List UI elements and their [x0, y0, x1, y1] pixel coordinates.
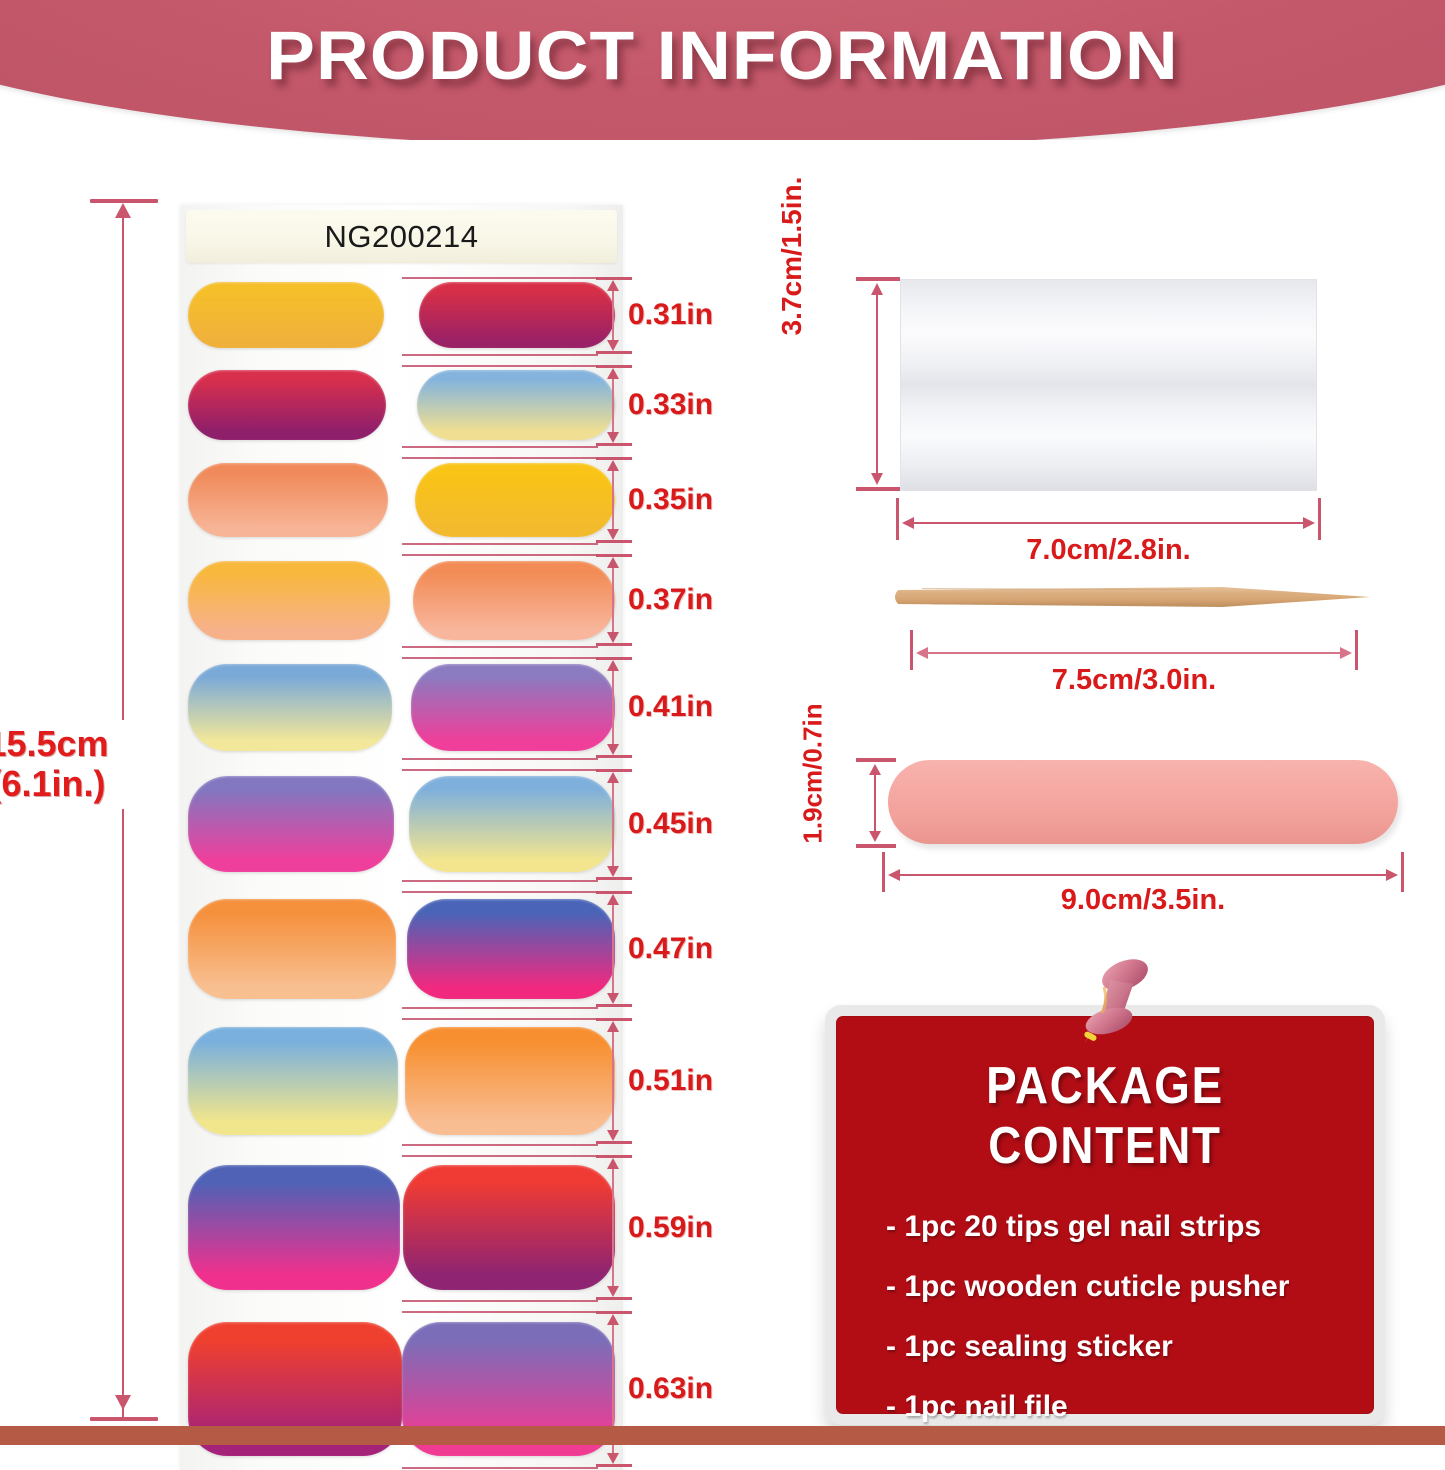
nail-strip-row: [180, 769, 623, 880]
strip-violet-pink[interactable]: [411, 664, 615, 751]
dimension-tick-bottom: [596, 877, 632, 880]
dimension-leader-line: [402, 354, 598, 356]
row-dimension-label: 0.35in: [628, 483, 713, 517]
dimension-leader-line: [402, 1311, 598, 1313]
dimension-arrow-up: [607, 894, 619, 905]
dimension-leader-line: [402, 880, 598, 882]
strip-purple-pink[interactable]: [188, 776, 394, 872]
total-height-line-2: (6.1in.): [0, 764, 135, 804]
sealing-sticker-width-label: 7.0cm/2.8in.: [896, 534, 1321, 567]
dimension-line: [612, 1023, 614, 1139]
dimension-arrow-down: [607, 1453, 619, 1464]
dimension-line: [876, 285, 878, 483]
dimension-tick-bottom: [596, 443, 632, 446]
dimension-leader-line: [402, 1018, 598, 1020]
dimension-leader-line: [402, 891, 598, 893]
dimension-tick-bottom: [596, 1141, 632, 1144]
dimension-line: [918, 652, 1350, 654]
row-dimension-label: 0.37in: [628, 583, 713, 617]
dimension-arrow-up: [115, 203, 131, 218]
dimension-arrow-down: [871, 473, 883, 485]
dimension-line: [122, 205, 124, 1417]
row-dimension-label: 0.51in: [628, 1064, 713, 1098]
dimension-leader-line: [402, 657, 598, 659]
total-height-label: 15.5cm (6.1in.): [0, 720, 135, 809]
package-content-item: - 1pc wooden cuticle pusher: [886, 1270, 1346, 1304]
dimension-arrow-down: [607, 340, 619, 351]
row-dimension-label: 0.31in: [628, 298, 713, 332]
dimension-arrow-down: [115, 1395, 131, 1410]
row-dimension: 0.31in: [596, 277, 726, 354]
dimension-line: [890, 874, 1396, 876]
dimension-line: [612, 559, 614, 640]
package-content-card: PACKAGE CONTENT - 1pc 20 tips gel nail s…: [825, 1005, 1385, 1425]
strip-yellow-gold[interactable]: [188, 282, 384, 348]
dimension-arrow-up: [607, 772, 619, 783]
cuticle-pusher-length-label: 7.5cm/3.0in.: [910, 664, 1358, 697]
strip-indigo-magenta[interactable]: [407, 899, 615, 999]
strip-tangerine-peach[interactable]: [405, 1027, 615, 1135]
nail-file-height-dimension: [834, 758, 896, 848]
dimension-arrow-down: [607, 632, 619, 643]
nail-strip-sheet: NG200214: [180, 205, 623, 1470]
dimension-tick-bottom: [596, 1004, 632, 1007]
strip-blue-violet-pink[interactable]: [188, 1165, 400, 1290]
dimension-cap-bottom: [90, 1417, 158, 1421]
strip-sky-yellow[interactable]: [188, 664, 392, 751]
dimension-tick-bottom: [596, 643, 632, 646]
dimension-cap-bottom: [856, 844, 896, 848]
dimension-leader-line: [402, 554, 598, 556]
dimension-leader-line: [402, 457, 598, 459]
nail-strip-row: [180, 457, 623, 543]
dimension-leader-line: [402, 1007, 598, 1009]
package-content-item: - 1pc 20 tips gel nail strips: [886, 1210, 1346, 1244]
dimension-leader-line: [402, 758, 598, 760]
sealing-sticker-width-dimension: 7.0cm/2.8in.: [896, 498, 1321, 560]
row-dimension-label: 0.59in: [628, 1211, 713, 1245]
dimension-arrow-down: [607, 1130, 619, 1141]
strip-blue-yellow[interactable]: [417, 370, 615, 440]
dimension-leader-line: [402, 446, 598, 448]
cuticle-pusher-group: 7.5cm/3.0in.: [880, 584, 1380, 714]
page-title: PRODUCT INFORMATION: [0, 16, 1445, 95]
dimension-line: [612, 462, 614, 538]
dimension-arrow-up: [607, 460, 619, 471]
dimension-leader-line: [402, 1467, 598, 1469]
dimension-cap-bottom: [856, 487, 900, 491]
dimension-arrow-left: [902, 517, 914, 529]
nail-file-height-label: 1.9cm/0.7in: [798, 694, 829, 854]
dimension-leader-line: [402, 277, 598, 279]
row-dimension-label: 0.41in: [628, 690, 713, 724]
dimension-tick-bottom: [596, 351, 632, 354]
dimension-arrow-down: [607, 993, 619, 1004]
total-height-line-1: 15.5cm: [0, 724, 135, 764]
strip-orange-peach[interactable]: [188, 463, 388, 537]
nail-strip-row: [180, 657, 623, 758]
dimension-tick-bottom: [596, 1464, 632, 1467]
row-dimension: 0.51in: [596, 1018, 726, 1144]
dimension-arrow-down: [607, 744, 619, 755]
dimension-line: [612, 896, 614, 1002]
strip-scarlet-purple[interactable]: [403, 1165, 615, 1290]
dimension-cap-top: [856, 758, 896, 762]
row-dimension: 0.47in: [596, 891, 726, 1007]
strip-blue-lemon[interactable]: [409, 776, 615, 872]
row-dimension: 0.59in: [596, 1155, 726, 1301]
dimension-leader-line: [402, 543, 598, 545]
nail-strip-sheet-section: 15.5cm (6.1in.) NG200214 0.31in0.33in0.3…: [0, 150, 730, 1430]
sealing-sticker-height-dimension: [830, 277, 896, 491]
sealing-sticker-height-label: 3.7cm/1.5in.: [776, 171, 808, 341]
dimension-arrow-up: [607, 280, 619, 291]
strip-bright-orange[interactable]: [188, 899, 396, 999]
dimension-arrow-down: [607, 1286, 619, 1297]
nail-file-width-label: 9.0cm/3.5in.: [882, 884, 1404, 917]
dimension-leader-line: [402, 365, 598, 367]
dimension-arrow-up: [607, 660, 619, 671]
total-height-dimension: [85, 195, 180, 1425]
row-dimension: 0.45in: [596, 769, 726, 880]
row-dimension-stack: 0.31in0.33in0.35in0.37in0.41in0.45in0.47…: [596, 150, 726, 1430]
nail-strip-grid: [180, 277, 623, 1467]
strip-orange-blush[interactable]: [413, 561, 615, 640]
strip-azure-yellow[interactable]: [188, 1027, 398, 1135]
product-code: NG200214: [325, 219, 479, 255]
dimension-arrow-right: [1340, 647, 1352, 659]
nail-file-group: 1.9cm/0.7in 9.0cm/3.5in.: [790, 730, 1400, 920]
dimension-tick-bottom: [596, 1297, 632, 1300]
accessories-section: 3.7cm/1.5in. 7.0cm/2.8in.: [760, 150, 1420, 1430]
sealing-sticker-image: [900, 279, 1317, 491]
dimension-arrow-up: [607, 1158, 619, 1169]
nail-file-image: [888, 760, 1398, 844]
row-dimension: 0.41in: [596, 657, 726, 758]
dimension-tick-bottom: [596, 755, 632, 758]
sheet-code-label: NG200214: [186, 210, 617, 263]
dimension-arrow-up: [871, 283, 883, 295]
nail-file-width-dimension: 9.0cm/3.5in.: [882, 852, 1404, 912]
dimension-arrow-up: [607, 557, 619, 568]
cuticle-pusher-length-dimension: 7.5cm/3.0in.: [910, 630, 1358, 686]
strip-red-magenta[interactable]: [419, 282, 615, 348]
nail-strip-row: [180, 1155, 623, 1301]
dimension-arrow-up: [607, 1314, 619, 1325]
nail-strip-row: [180, 891, 623, 1007]
package-content-item: - 1pc sealing sticker: [886, 1330, 1346, 1364]
dimension-leader-line: [402, 646, 598, 648]
row-dimension-label: 0.63in: [628, 1372, 713, 1406]
dimension-line: [612, 774, 614, 875]
dimension-arrow-up: [607, 1021, 619, 1032]
dimension-arrow-right: [1303, 517, 1315, 529]
dimension-leader-line: [402, 769, 598, 771]
package-content-list: - 1pc 20 tips gel nail strips- 1pc woode…: [864, 1210, 1346, 1424]
nail-strip-row: [180, 365, 623, 446]
dimension-arrow-right: [1386, 869, 1398, 881]
dimension-line: [874, 766, 876, 840]
dimension-arrow-down: [869, 831, 881, 842]
footer-bar: [0, 1426, 1445, 1445]
nail-strip-row: [180, 554, 623, 645]
row-dimension: 0.35in: [596, 457, 726, 543]
dimension-line: [612, 370, 614, 441]
row-dimension-label: 0.47in: [628, 932, 713, 966]
row-dimension-label: 0.33in: [628, 388, 713, 422]
dimension-cap-top: [856, 277, 900, 281]
dimension-leader-line: [402, 1144, 598, 1146]
dimension-arrow-down: [607, 866, 619, 877]
row-dimension: 0.33in: [596, 365, 726, 446]
strip-crimson-purple[interactable]: [188, 370, 386, 440]
dimension-leader-line: [402, 1155, 598, 1157]
package-content-inner: PACKAGE CONTENT - 1pc 20 tips gel nail s…: [836, 1016, 1374, 1414]
dimension-arrow-down: [607, 529, 619, 540]
dimension-arrow-up: [607, 368, 619, 379]
dimension-arrow-down: [607, 432, 619, 443]
dimension-tick-bottom: [596, 540, 632, 543]
dimension-arrow-up: [869, 764, 881, 775]
nail-strip-row: [180, 1018, 623, 1144]
dimension-line: [904, 522, 1313, 524]
row-dimension-label: 0.45in: [628, 807, 713, 841]
package-content-item: - 1pc nail file: [886, 1390, 1346, 1424]
row-dimension: 0.37in: [596, 554, 726, 645]
dimension-leader-line: [402, 1300, 598, 1302]
dimension-line: [612, 662, 614, 753]
strip-amber-peach[interactable]: [188, 561, 390, 640]
strip-golden-yellow[interactable]: [415, 463, 615, 537]
wooden-cuticle-pusher-image: [892, 584, 1370, 610]
pushpin-icon: [1070, 959, 1160, 1059]
package-content-title: PACKAGE CONTENT: [893, 1056, 1317, 1176]
dimension-arrow-left: [916, 647, 928, 659]
dimension-arrow-left: [888, 869, 900, 881]
nail-strip-row: [180, 277, 623, 354]
dimension-line: [612, 1160, 614, 1296]
